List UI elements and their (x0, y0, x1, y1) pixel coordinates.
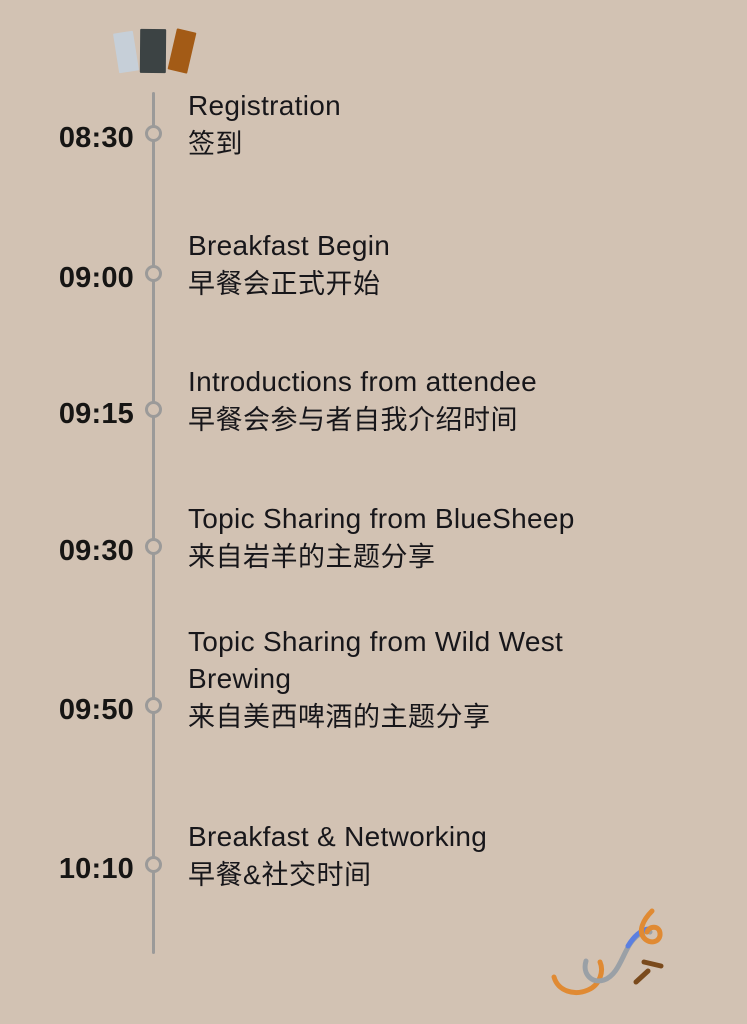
schedule-time: 09:50 (0, 696, 134, 725)
schedule-content: Registration 签到 (188, 88, 728, 163)
schedule-title-en: Introductions from attendee (188, 364, 728, 401)
schedule-title-en: Topic Sharing from Wild West Brewing (188, 624, 658, 698)
schedule-title-en: Registration (188, 88, 728, 125)
schedule-title-zh: 早餐&社交时间 (188, 858, 728, 894)
timeline-dot (145, 697, 162, 714)
schedule-title-en: Breakfast Begin (188, 228, 728, 265)
orange-arc-icon (554, 962, 602, 992)
confetti-squiggle-decoration (548, 898, 747, 1024)
schedule-content: Breakfast & Networking 早餐&社交时间 (188, 819, 728, 894)
schedule-title-zh: 来自岩羊的主题分享 (188, 540, 728, 576)
timeline-dot (145, 401, 162, 418)
orange-loop-icon (641, 911, 660, 942)
schedule-title-en: Topic Sharing from BlueSheep (188, 501, 728, 538)
schedule-title-zh: 早餐会参与者自我介绍时间 (188, 403, 728, 439)
schedule-content: Topic Sharing from BlueSheep 来自岩羊的主题分享 (188, 501, 728, 576)
schedule-content: Introductions from attendee 早餐会参与者自我介绍时间 (188, 364, 728, 439)
schedule-content: Topic Sharing from Wild West Brewing 来自美… (188, 624, 658, 736)
schedule-time: 08:30 (0, 124, 134, 153)
schedule-content: Breakfast Begin 早餐会正式开始 (188, 228, 728, 303)
schedule-time: 09:00 (0, 264, 134, 293)
schedule-time: 09:15 (0, 400, 134, 429)
agenda-page: 08:30 Registration 签到 09:00 Breakfast Be… (0, 0, 747, 1024)
schedule-time: 09:30 (0, 537, 134, 566)
gray-wave-icon (585, 932, 650, 981)
timeline-dot (145, 265, 162, 282)
brown-dash-icon (644, 962, 661, 966)
schedule-title-en: Breakfast & Networking (188, 819, 728, 856)
schedule-title-zh: 来自美西啤酒的主题分享 (188, 700, 658, 736)
orange-cover-icon (168, 28, 197, 73)
timeline-dot (145, 538, 162, 555)
schedule-title-zh: 早餐会正式开始 (188, 267, 728, 303)
timeline-dot (145, 856, 162, 873)
timeline-dot (145, 125, 162, 142)
schedule-title-zh: 签到 (188, 127, 728, 163)
timeline-axis (152, 92, 155, 954)
book-stack-decoration (110, 20, 220, 80)
dark-cover-icon (140, 29, 166, 73)
schedule-time: 10:10 (0, 855, 134, 884)
blue-segment-icon (628, 929, 649, 946)
brown-dash-icon (636, 971, 648, 982)
light-page-icon (113, 31, 139, 74)
